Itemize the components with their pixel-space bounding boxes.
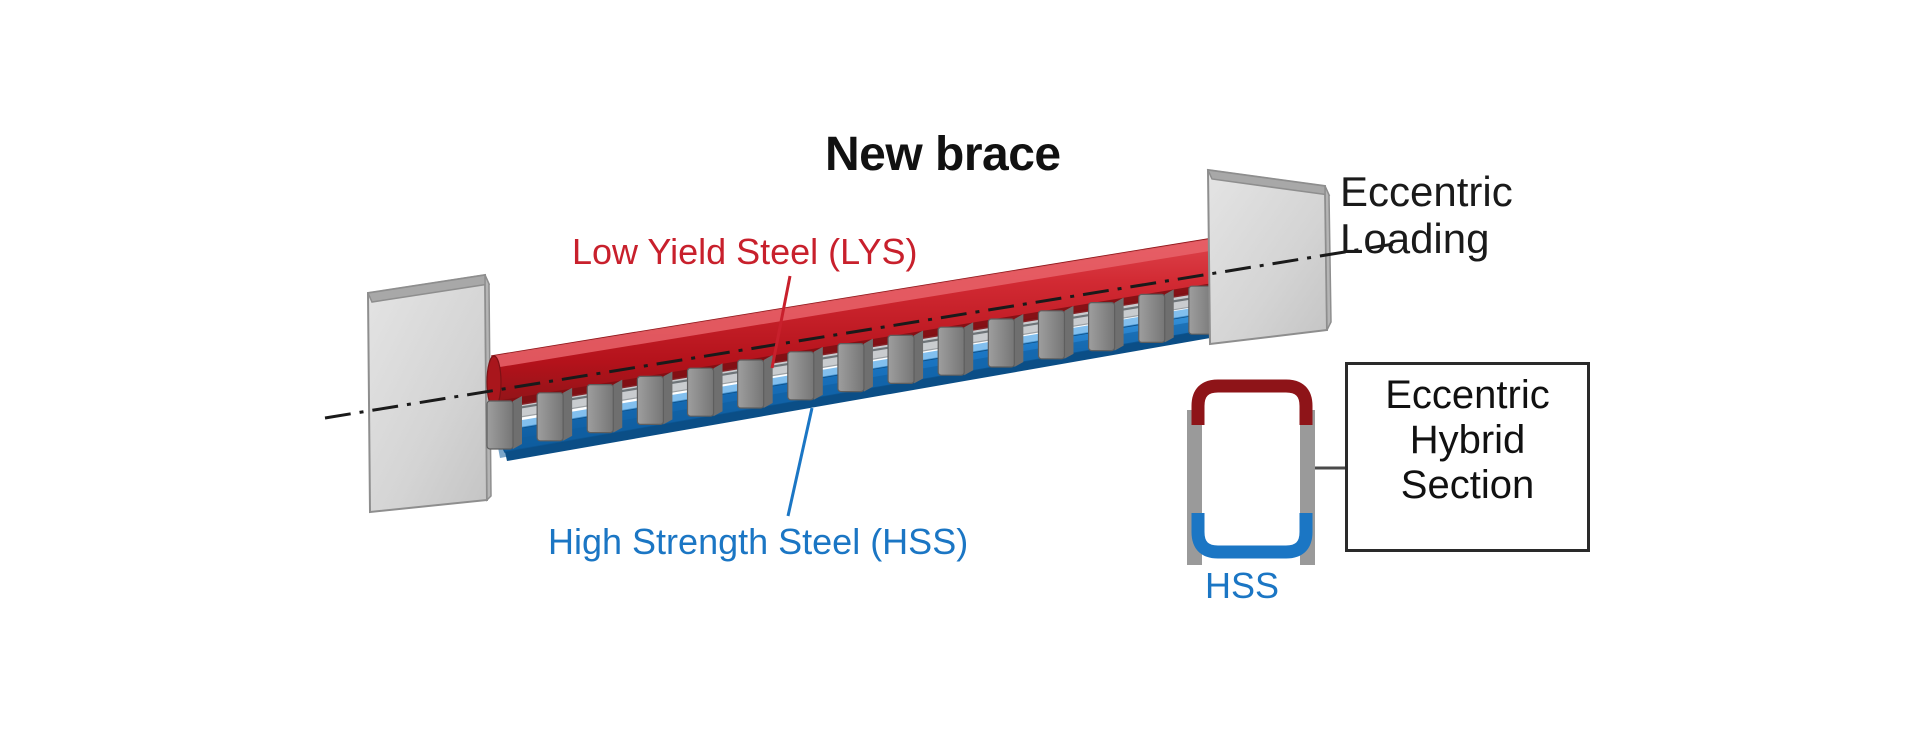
hss-leader-line [788,408,812,516]
figure-canvas: New brace Low Yield Steel (LYS) High Str… [0,0,1920,746]
section-box-line-1: Eccentric [1348,373,1587,418]
section-box-line-3: Section [1348,463,1587,508]
stiffener-block [938,322,973,375]
eccentric-loading-line-2: Loading [1340,215,1513,262]
eccentric-hybrid-cross-section [1187,386,1345,565]
stiffener-block [637,371,672,424]
stiffener-block [587,380,622,433]
label-eccentric-loading: Eccentric Loading [1340,168,1513,262]
stiffener-block [838,339,873,392]
stiffener-block [788,347,823,400]
eccentric-hybrid-section-box: Eccentric Hybrid Section [1345,362,1590,552]
stiffener-block [1038,306,1073,359]
right-end-plate [1208,170,1331,344]
stiffener-block [487,396,522,449]
stiffener-block [888,330,923,383]
stiffener-block [688,363,723,416]
label-low-yield-steel: Low Yield Steel (LYS) [572,232,918,272]
page-title: New brace [825,128,1061,182]
brace-diagram-svg [0,0,1920,746]
stiffener-block [988,314,1023,367]
label-high-strength-steel: High Strength Steel (HSS) [548,522,968,562]
label-section-hss: HSS [1205,566,1279,606]
stiffener-block [537,388,572,441]
stiffener-block [1089,298,1124,351]
eccentric-hybrid-section-text: Eccentric Hybrid Section [1348,373,1587,507]
stiffener-block [738,355,773,408]
section-box-line-2: Hybrid [1348,418,1587,463]
stiffener-block [1139,289,1174,342]
eccentric-loading-line-1: Eccentric [1340,168,1513,215]
